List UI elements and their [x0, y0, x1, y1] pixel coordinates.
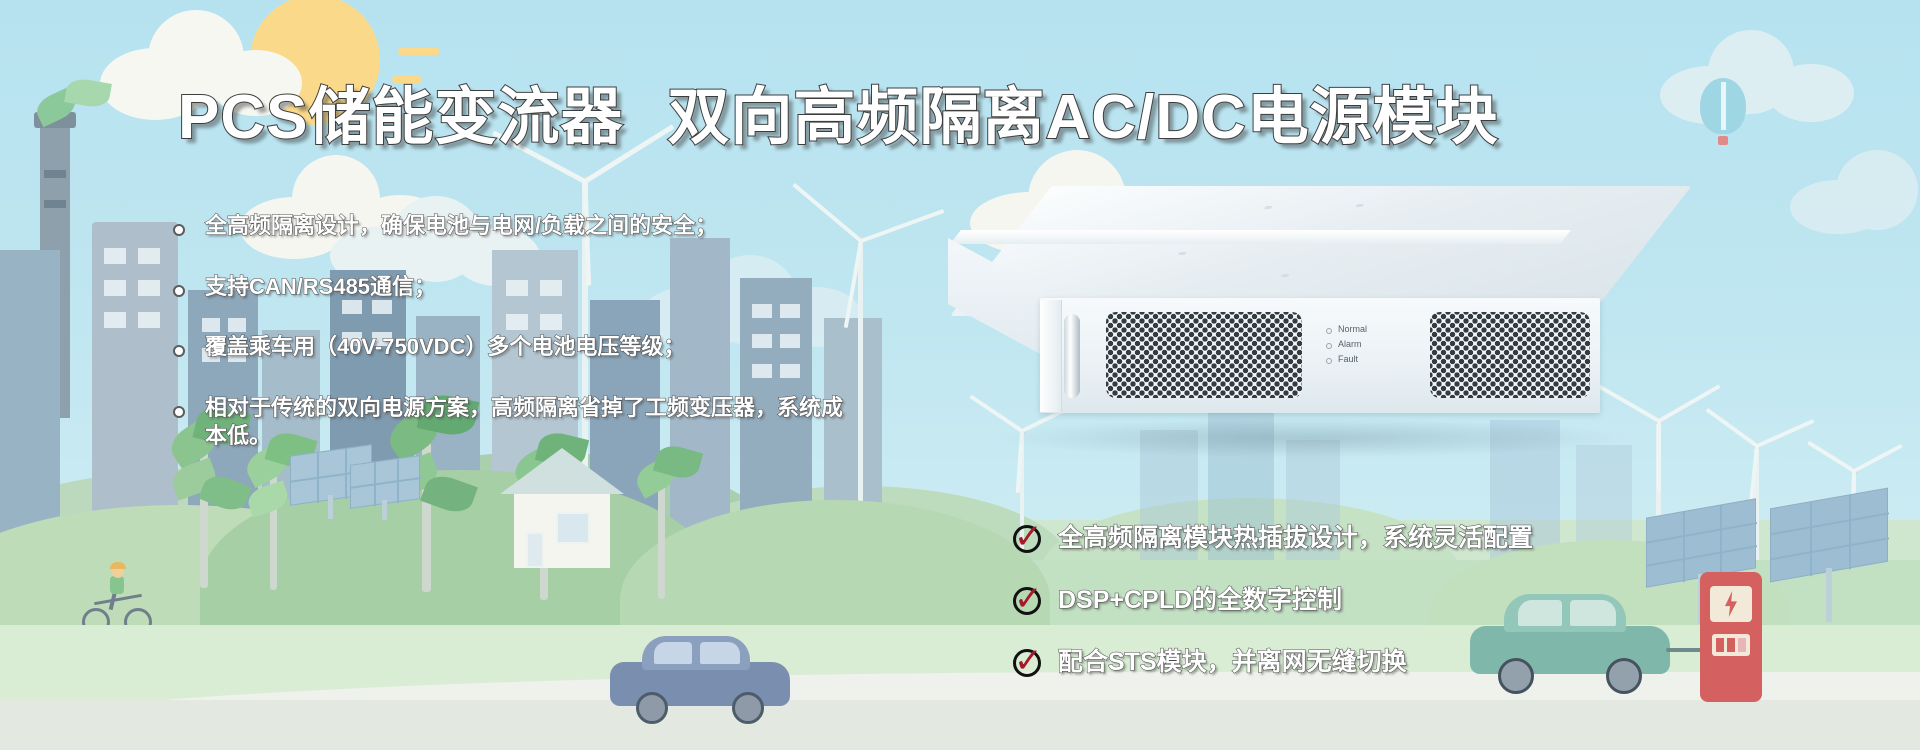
- highlight-text: 全高频隔离模块热插拔设计，系统灵活配置: [1058, 518, 1533, 554]
- led-label-alarm: Alarm: [1338, 339, 1362, 349]
- road-lower: [0, 700, 1920, 750]
- solar-panel-leg: [382, 500, 387, 520]
- highlight-text: 配合STS模块，并离网无缝切换: [1058, 642, 1407, 678]
- check-circle-icon: ✓: [1012, 522, 1046, 556]
- title-part-2: 双向高频隔离AC/DC电源模块: [667, 83, 1498, 152]
- product-banner: Normal Alarm Fault PCS储能变流器双向高频隔离AC/DC电源…: [0, 0, 1920, 750]
- page-title: PCS储能变流器双向高频隔离AC/DC电源模块: [178, 66, 1499, 156]
- list-item: 覆盖乘车用（40V-750VDC）多个电池电压等级；: [205, 333, 925, 362]
- vent-grille-left: [1106, 312, 1302, 398]
- feature-text: 相对于传统的双向电源方案，高频隔离省掉了工频变压器，系统成本低。: [205, 394, 845, 451]
- product-front-panel: Normal Alarm Fault: [1040, 298, 1600, 413]
- product-shadow: [990, 418, 1630, 458]
- feature-text: 全高频隔离设计，确保电池与电网/负载之间的安全；: [205, 212, 925, 241]
- led-dot-alarm: [1326, 343, 1332, 349]
- list-item: 全高频隔离设计，确保电池与电网/负载之间的安全；: [205, 212, 925, 241]
- led-dot-normal: [1326, 328, 1332, 334]
- bullet-dot: [173, 224, 185, 236]
- feature-text: 覆盖乘车用（40V-750VDC）多个电池电压等级；: [205, 333, 925, 362]
- building: [0, 250, 60, 550]
- solar-panel-leg: [328, 495, 333, 519]
- product-top-panel: [950, 186, 1692, 316]
- led-label-normal: Normal: [1338, 324, 1367, 334]
- led-dot-fault: [1326, 358, 1332, 364]
- product-handle: [1064, 314, 1080, 398]
- check-circle-icon: ✓: [1012, 646, 1046, 680]
- title-part-1: PCS储能变流器: [178, 83, 623, 152]
- vent-grille-right: [1430, 312, 1590, 398]
- product-bezel: [1040, 300, 1062, 412]
- building: [92, 222, 178, 552]
- feature-text: 支持CAN/RS485通信；: [205, 273, 925, 302]
- bullet-dot: [173, 406, 185, 418]
- product-top-lip: [950, 230, 1571, 244]
- sun-ray: [398, 48, 440, 55]
- led-label-fault: Fault: [1338, 354, 1358, 364]
- feature-list: 全高频隔离设计，确保电池与电网/负载之间的安全； 支持CAN/RS485通信； …: [205, 212, 925, 483]
- bullet-dot: [173, 285, 185, 297]
- product-image: Normal Alarm Fault: [930, 178, 1690, 478]
- list-item: 相对于传统的双向电源方案，高频隔离省掉了工频变压器，系统成本低。: [205, 394, 845, 451]
- check-circle-icon: ✓: [1012, 584, 1046, 618]
- chimney-band: [44, 200, 66, 208]
- chimney-band: [44, 170, 66, 178]
- list-item: 支持CAN/RS485通信；: [205, 273, 925, 302]
- highlight-text: DSP+CPLD的全数字控制: [1058, 580, 1342, 616]
